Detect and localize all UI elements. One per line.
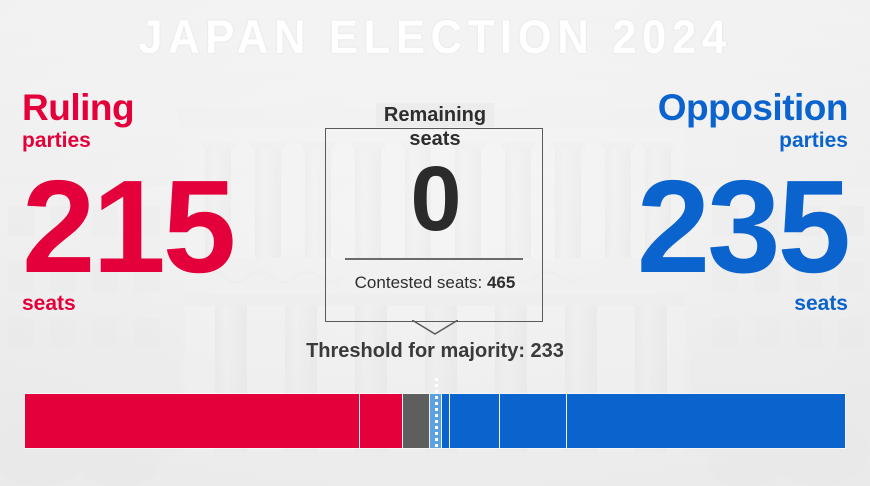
remaining-seats-value: 0 [326,151,544,247]
opposition-seat-count: 235 [637,168,848,286]
seat-segment [402,394,429,448]
seat-segment [449,394,499,448]
opposition-parties-block: Opposition parties 235 seats [637,88,848,316]
contested-seats-value: 465 [487,273,515,292]
contested-seats-row: Contested seats: 465 [326,272,544,294]
seat-segment [359,394,402,448]
seat-segment [429,394,440,448]
opposition-label: Opposition [637,88,848,128]
page-title: JAPAN ELECTION 2024 [30,8,839,66]
remaining-seats-box: Remaining seats 0 Contested seats: 465 [325,128,543,322]
ruling-label: Ruling [22,88,233,128]
opposition-sublabel: parties [637,128,848,154]
ruling-sublabel: parties [22,128,233,154]
box-pointer-notch [412,320,458,334]
seat-segment [25,394,359,448]
ruling-seat-count: 215 [22,168,233,286]
seat-segment [499,394,566,448]
seat-distribution-bar [25,394,845,448]
majority-threshold-label: Threshold for majority: 233 [0,338,870,364]
ruling-parties-block: Ruling parties 215 seats [22,88,233,316]
seat-segment [566,394,845,448]
infographic-root: JAPAN ELECTION 2024 Ruling parties 215 s… [0,0,870,486]
contested-seats-label: Contested seats: [355,273,483,292]
box-divider [345,258,523,260]
seat-segment [441,394,449,448]
